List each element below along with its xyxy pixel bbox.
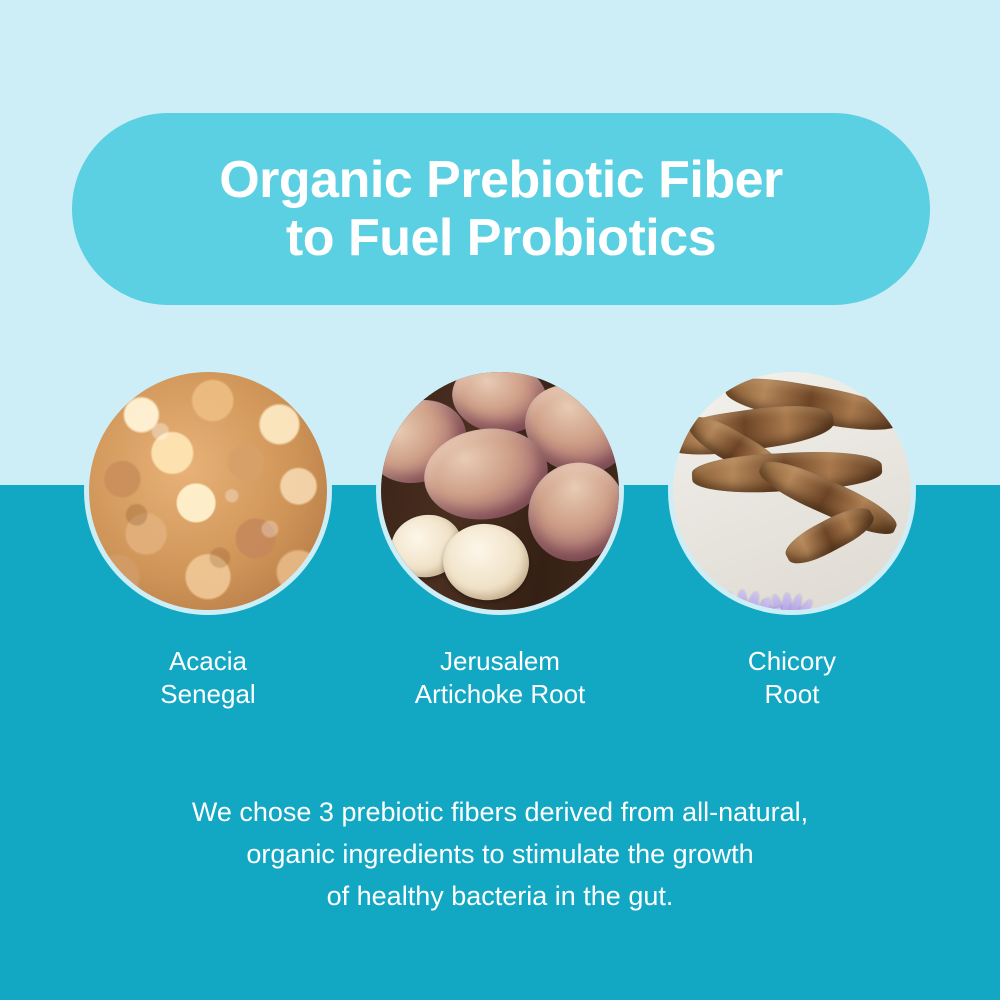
- chicory-flower-icon: [678, 501, 811, 610]
- acacia-senegal-gum-granules-photo: [89, 372, 327, 610]
- photo-ring: [668, 367, 916, 615]
- ingredient-label-jerusalem-artichoke-root: Jerusalem Artichoke Root: [415, 645, 586, 712]
- ingredient-item-chicory-root: Chicory Root: [668, 367, 916, 712]
- photo-ring: [376, 367, 624, 615]
- body-paragraph: We chose 3 prebiotic fibers derived from…: [0, 792, 1000, 918]
- headline-pill: Organic Prebiotic Fiber to Fuel Probioti…: [72, 113, 930, 305]
- ingredient-label-acacia-senegal: Acacia Senegal: [160, 645, 255, 712]
- photo-ring: [84, 367, 332, 615]
- jerusalem-artichoke-root-photo: [381, 372, 619, 610]
- ingredient-row: Acacia Senegal Jerusalem Artichoke Root: [0, 367, 1000, 712]
- ingredient-label-chicory-root: Chicory Root: [748, 645, 836, 712]
- headline-text: Organic Prebiotic Fiber to Fuel Probioti…: [219, 151, 783, 267]
- chicory-root-photo: [673, 372, 911, 610]
- ingredient-item-acacia-senegal: Acacia Senegal: [84, 367, 332, 712]
- prebiotic-fiber-infographic: Organic Prebiotic Fiber to Fuel Probioti…: [0, 0, 1000, 1000]
- ingredient-item-jerusalem-artichoke-root: Jerusalem Artichoke Root: [376, 367, 624, 712]
